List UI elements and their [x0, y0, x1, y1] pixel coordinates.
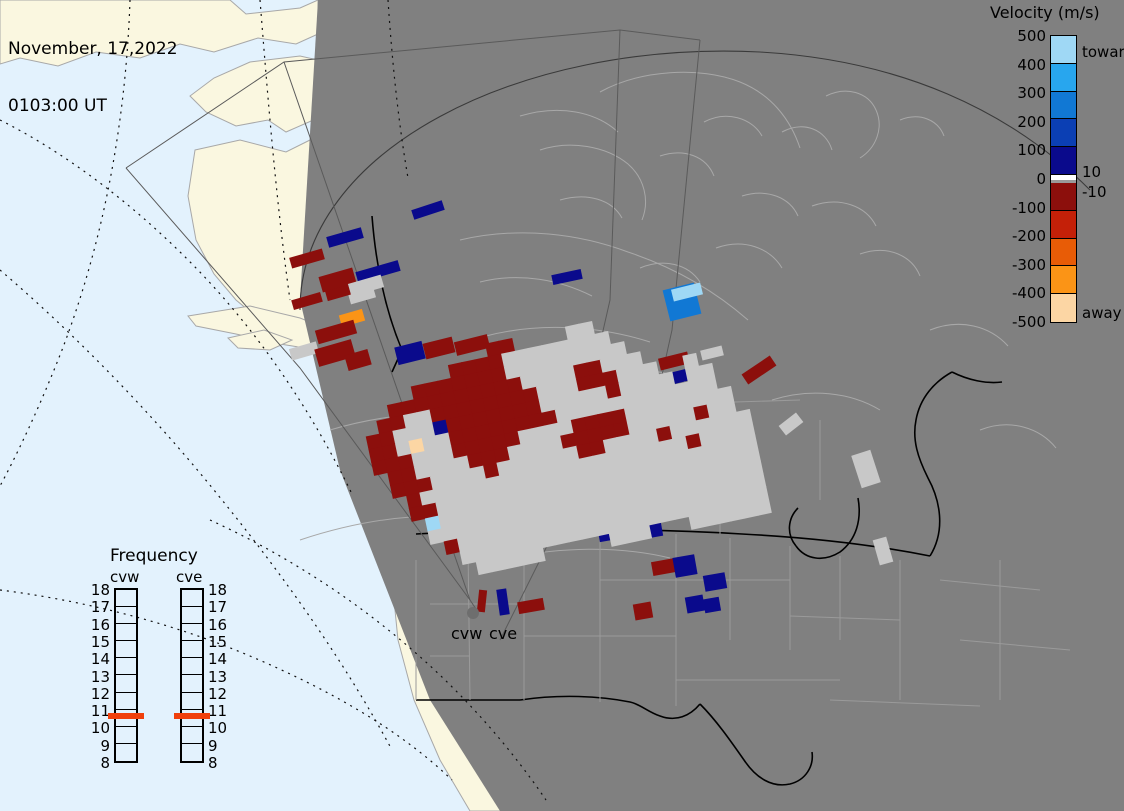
frequency-segment	[182, 658, 202, 675]
colorbar-band--100	[1051, 183, 1076, 211]
colorbar-band--200	[1051, 211, 1076, 239]
scatter-cell	[635, 525, 652, 541]
datetime-stamp: November, 17,2022 0103:00 UT	[8, 2, 178, 154]
colorbar-band-400	[1051, 64, 1076, 92]
colorbar-band--400	[1051, 266, 1076, 294]
colorbar-negative-threshold-label: -10	[1082, 183, 1107, 201]
frequency-tick-left-11: 11	[90, 702, 110, 720]
frequency-tick-right-17: 17	[208, 598, 227, 616]
frequency-title: Frequency	[110, 546, 198, 566]
frequency-tick-left-8: 8	[90, 754, 110, 772]
colorbar-band-100	[1051, 147, 1076, 175]
colorbar-tick--300: -300	[1012, 256, 1046, 274]
frequency-bar-cve	[180, 588, 204, 763]
frequency-segment	[116, 641, 136, 658]
frequency-tick-right-8: 8	[208, 754, 218, 772]
frequency-segment	[182, 624, 202, 641]
colorbar-tick--200: -200	[1012, 227, 1046, 245]
colorbar-band-300	[1051, 92, 1076, 120]
scatter-cell	[529, 547, 546, 563]
frequency-segment	[116, 590, 136, 607]
frequency-tick-right-15: 15	[208, 633, 227, 651]
colorbar-band--500	[1051, 294, 1076, 322]
velocity-colorbar: Velocity (m/s) 5004003002001000-100-200-…	[980, 0, 1124, 340]
frequency-tick-left-18: 18	[90, 581, 110, 599]
frequency-segment	[182, 590, 202, 607]
scatter-cell	[755, 499, 772, 515]
colorbar-away-label: away	[1082, 304, 1122, 322]
frequency-segment	[116, 693, 136, 710]
scatter-cell	[703, 597, 721, 614]
frequency-segment	[182, 641, 202, 658]
colorbar-band-500	[1051, 36, 1076, 64]
colorbar-tick-500: 500	[1017, 27, 1046, 45]
frequency-tick-right-18: 18	[208, 581, 227, 599]
frequency-segment	[116, 675, 136, 692]
frequency-marker-cve	[174, 713, 210, 719]
colorbar-band-200	[1051, 119, 1076, 147]
colorbar-tick--100: -100	[1012, 199, 1046, 217]
frequency-tick-right-12: 12	[208, 685, 227, 703]
frequency-tick-right-16: 16	[208, 616, 227, 634]
frequency-tick-left-9: 9	[90, 737, 110, 755]
frequency-column-header-cve: cve	[176, 568, 202, 586]
scatter-cell	[633, 602, 654, 621]
frequency-segment	[182, 693, 202, 710]
frequency-segment	[116, 607, 136, 624]
frequency-tick-right-13: 13	[208, 668, 227, 686]
frequency-marker-cvw	[108, 713, 144, 719]
frequency-tick-left-13: 13	[90, 668, 110, 686]
site-label-cvw: cvw	[451, 624, 482, 643]
site-label-cve: cve	[489, 624, 517, 643]
frequency-tick-right-9: 9	[208, 737, 218, 755]
scatter-cell	[685, 595, 706, 614]
colorbar-tick-0: 0	[1036, 170, 1046, 188]
frequency-bar-cvw	[114, 588, 138, 763]
frequency-segment	[182, 607, 202, 624]
frequency-tick-left-16: 16	[90, 616, 110, 634]
colorbar-tick-100: 100	[1017, 141, 1046, 159]
colorbar-swatches	[1050, 35, 1077, 323]
frequency-segment	[116, 624, 136, 641]
frequency-segment	[182, 675, 202, 692]
frequency-segment	[116, 727, 136, 744]
scatter-cell	[672, 554, 697, 578]
radar-site-marker	[467, 607, 479, 619]
frequency-segment	[116, 658, 136, 675]
frequency-tick-left-14: 14	[90, 650, 110, 668]
frequency-tick-left-12: 12	[90, 685, 110, 703]
colorbar-positive-threshold-label: 10	[1082, 163, 1101, 181]
colorbar-tick--400: -400	[1012, 284, 1046, 302]
frequency-tick-left-17: 17	[90, 598, 110, 616]
colorbar-tick-300: 300	[1017, 84, 1046, 102]
time-label: 0103:00 UT	[8, 97, 178, 116]
colorbar-tick--500: -500	[1012, 313, 1046, 331]
frequency-segment	[182, 744, 202, 761]
colorbar-tick-400: 400	[1017, 56, 1046, 74]
radar-fan-plot: November, 17,2022 0103:00 UT Velocity (m…	[0, 0, 1124, 811]
frequency-tick-left-15: 15	[90, 633, 110, 651]
frequency-tick-right-10: 10	[208, 719, 227, 737]
colorbar-tick-labels: 5004003002001000-100-200-300-400-500	[980, 0, 1046, 340]
date-label: November, 17,2022	[8, 40, 178, 59]
frequency-column-header-cvw: cvw	[110, 568, 139, 586]
frequency-tick-left-10: 10	[90, 719, 110, 737]
frequency-tick-right-11: 11	[208, 702, 227, 720]
frequency-segment	[182, 727, 202, 744]
colorbar-tick-200: 200	[1017, 113, 1046, 131]
frequency-legend: Frequency cvw cve 18171615141312111098 1…	[96, 546, 228, 788]
frequency-segment	[116, 744, 136, 761]
colorbar-band--300	[1051, 239, 1076, 267]
colorbar-toward-label: toward	[1082, 43, 1124, 61]
frequency-tick-right-14: 14	[208, 650, 227, 668]
